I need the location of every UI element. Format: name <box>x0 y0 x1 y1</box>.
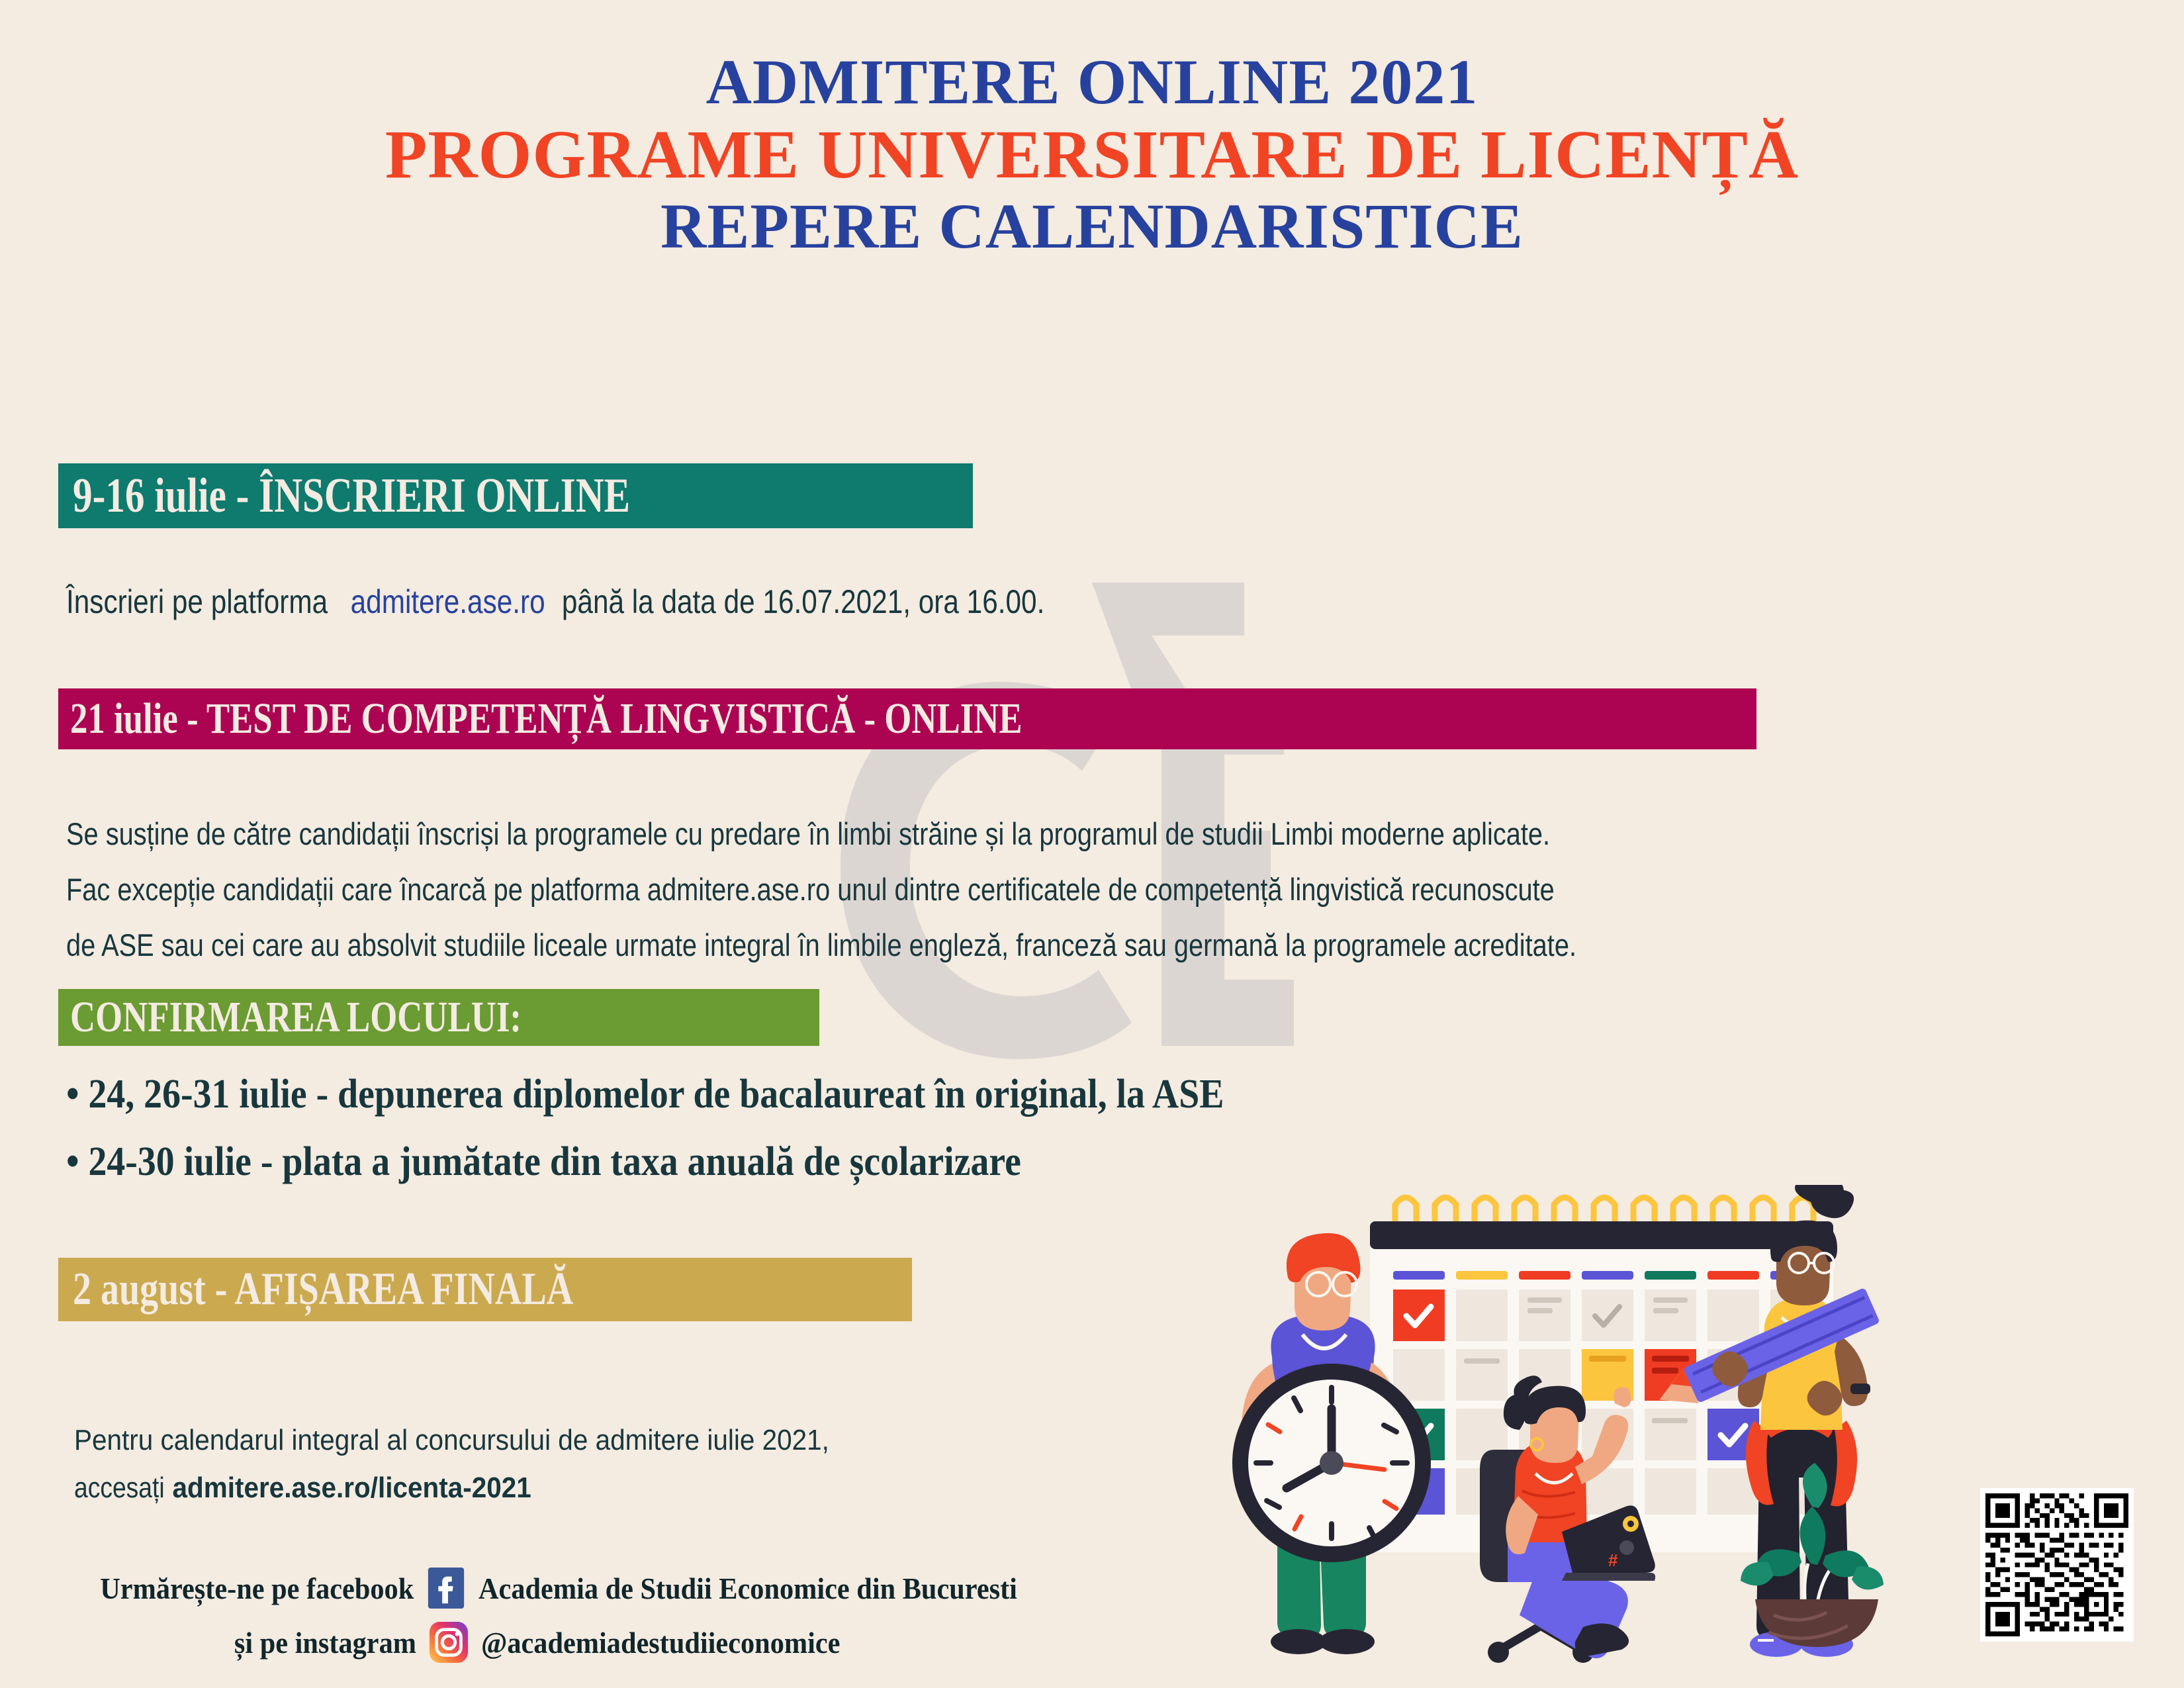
calendar-row-1 <box>1393 1289 1822 1341</box>
test-line-1: Se susține de către candidații înscriși … <box>66 806 1550 862</box>
banner-test-label: 21 iulie - TEST DE COMPETENȚĂ LINGVISTIC… <box>70 694 1023 744</box>
title-line-2: PROGRAME UNIVERSITARE DE LICENȚĂ <box>0 117 2184 192</box>
banner-august-label: 2 august - AFIȘAREA FINALĂ <box>73 1263 573 1316</box>
banner-afisarea-finala: 2 august - AFIȘAREA FINALĂ <box>58 1258 912 1321</box>
calendar-header-chips <box>1393 1271 1822 1280</box>
note-url[interactable]: admitere.ase.ro/licenta-2021 <box>173 1472 531 1504</box>
social-facebook-row: Urmărește-ne pe facebook Academia de Stu… <box>73 1568 1064 1609</box>
instagram-icon[interactable] <box>428 1622 469 1663</box>
bullet-depunere-diplome: • 24, 26-31 iulie - depunerea diplomelor… <box>66 1071 1353 1118</box>
calendar-team-illustration: # <box>1231 1185 1933 1668</box>
banner-confirmare-label: CONFIRMAREA LOCULUI: <box>70 992 522 1043</box>
inscrieri-text-before: Înscrieri pe platforma <box>66 583 328 621</box>
facebook-icon[interactable] <box>426 1568 467 1609</box>
instagram-label: și pe instagram <box>234 1625 416 1660</box>
admitere-link[interactable]: admitere.ase.ro <box>351 583 545 621</box>
calendar-note: Pentru calendarul integral al concursulu… <box>74 1417 895 1512</box>
page-title: ADMITERE ONLINE 2021 PROGRAME UNIVERSITA… <box>0 48 2184 261</box>
banner-inscrieri-label: 9-16 iulie - ÎNSCRIERI ONLINE <box>73 468 630 524</box>
bullet-2-label: • 24-30 iulie - plata a jumătate din tax… <box>66 1139 1021 1186</box>
bullet-1-label: • 24, 26-31 iulie - depunerea diplomelor… <box>66 1071 1224 1118</box>
poster-root: ADMITERE ONLINE 2021 PROGRAME UNIVERSITA… <box>0 0 2184 1688</box>
facebook-handle[interactable]: Academia de Studii Economice din Bucures… <box>478 1571 1017 1606</box>
test-line-2: Fac excepție candidații care încarcă pe … <box>66 862 1555 917</box>
title-line-1: ADMITERE ONLINE 2021 <box>0 48 2184 117</box>
instagram-handle[interactable]: @academiadestudiieconomice <box>481 1625 840 1660</box>
note-line-2-prefix: accesați <box>74 1464 165 1512</box>
qr-code[interactable] <box>1980 1488 2134 1642</box>
note-line-1: Pentru calendarul integral al concursulu… <box>74 1417 829 1464</box>
inscrieri-text-after: până la data de 16.07.2021, ora 16.00. <box>562 583 1044 621</box>
svg-text:#: # <box>1608 1550 1618 1570</box>
banner-confirmarea-locului: CONFIRMAREA LOCULUI: <box>58 989 819 1046</box>
calendar-spine <box>1370 1221 1833 1249</box>
facebook-label: Urmărește-ne pe facebook <box>100 1571 414 1606</box>
paragraph-inscrieri: Înscrieri pe platforma admitere.ase.ro p… <box>66 583 1175 621</box>
banner-inscrieri-online: 9-16 iulie - ÎNSCRIERI ONLINE <box>58 463 973 528</box>
test-line-3: de ASE sau cei care au absolvit studiile… <box>66 917 1576 973</box>
title-line-3: REPERE CALENDARISTICE <box>0 192 2184 261</box>
social-instagram-row: și pe instagram @academiadestudiieconomi… <box>218 1622 872 1663</box>
banner-test-lingvistic: 21 iulie - TEST DE COMPETENȚĂ LINGVISTIC… <box>58 688 1756 749</box>
bullet-plata-taxa: • 24-30 iulie - plata a jumătate din tax… <box>66 1139 1127 1186</box>
paragraph-test-lingvistic: Se susține de către candidații înscriși … <box>66 806 1850 973</box>
